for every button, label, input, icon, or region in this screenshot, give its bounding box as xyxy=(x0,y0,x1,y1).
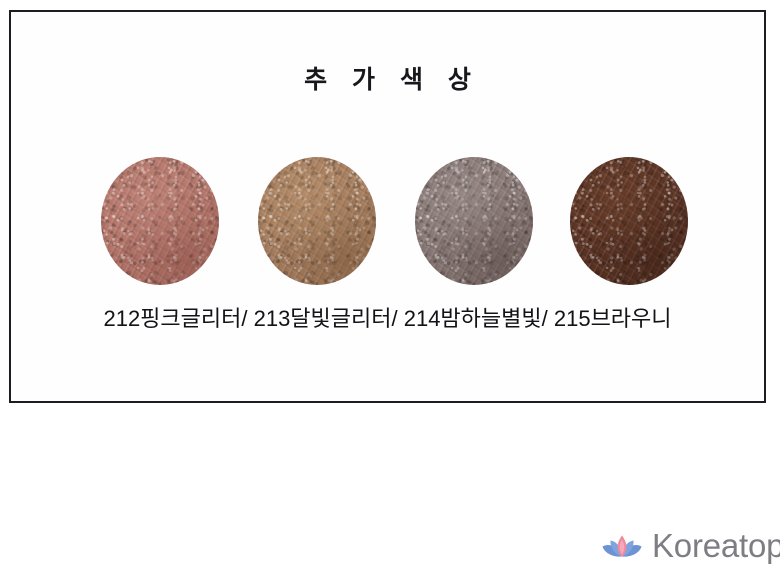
swatch-shading xyxy=(258,157,376,285)
color-swatch-212[interactable] xyxy=(101,157,219,285)
lotus-flower-icon xyxy=(601,526,643,565)
product-panel: 추 가 색 상 xyxy=(9,10,766,403)
brand-logo: Koreatop xyxy=(601,524,780,566)
color-swatch-214[interactable] xyxy=(415,157,533,285)
swatch-caption: 212핑크글리터/ 213달빛글리터/ 214밤하늘별빛/ 215브라우니 xyxy=(11,304,764,334)
swatch-row xyxy=(51,155,726,295)
page-title: 추 가 색 상 xyxy=(11,68,764,93)
swatch-shading xyxy=(570,157,688,285)
color-swatch-215[interactable] xyxy=(570,157,688,285)
color-swatch-213[interactable] xyxy=(258,157,376,285)
swatch-shading xyxy=(101,157,219,285)
product-color-chart-page: 추 가 색 상 xyxy=(0,0,780,572)
brand-name: Koreatop xyxy=(652,529,780,562)
swatch-shading xyxy=(415,157,533,285)
